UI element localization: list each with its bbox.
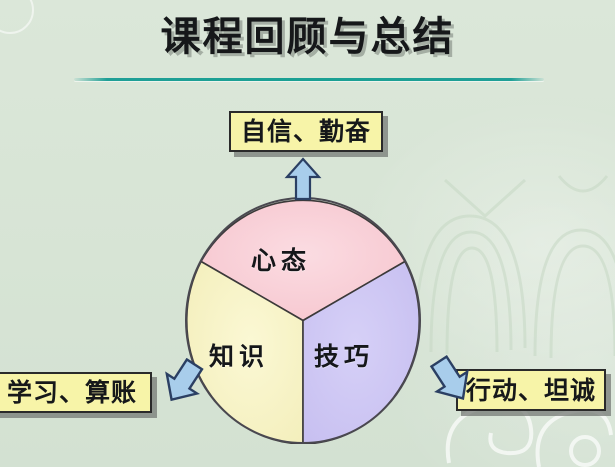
title-underline-rule <box>74 78 544 81</box>
pie-label-knowledge: 知识 <box>209 337 269 373</box>
pie-diagram: 心态 知识 技巧 <box>185 197 421 444</box>
arrow-down-left-icon <box>152 358 214 406</box>
slide-canvas: 课程回顾与总结 <box>0 0 615 467</box>
callout-right-text: 行动、坦诚 <box>466 378 596 403</box>
callout-box-left[interactable]: 学习、算账 <box>0 372 152 413</box>
callout-box-top[interactable]: 自信、勤奋 <box>229 111 383 152</box>
page-title: 课程回顾与总结 <box>0 6 615 68</box>
pie-chart-svg <box>185 197 421 444</box>
pie-label-mindset: 心态 <box>251 241 311 277</box>
callout-left-text: 学习、算账 <box>7 380 137 405</box>
pie-label-skills: 技巧 <box>314 337 374 373</box>
arrow-down-right-icon <box>420 355 482 405</box>
arrow-up-icon <box>283 157 323 201</box>
callout-top-text: 自信、勤奋 <box>241 119 371 144</box>
